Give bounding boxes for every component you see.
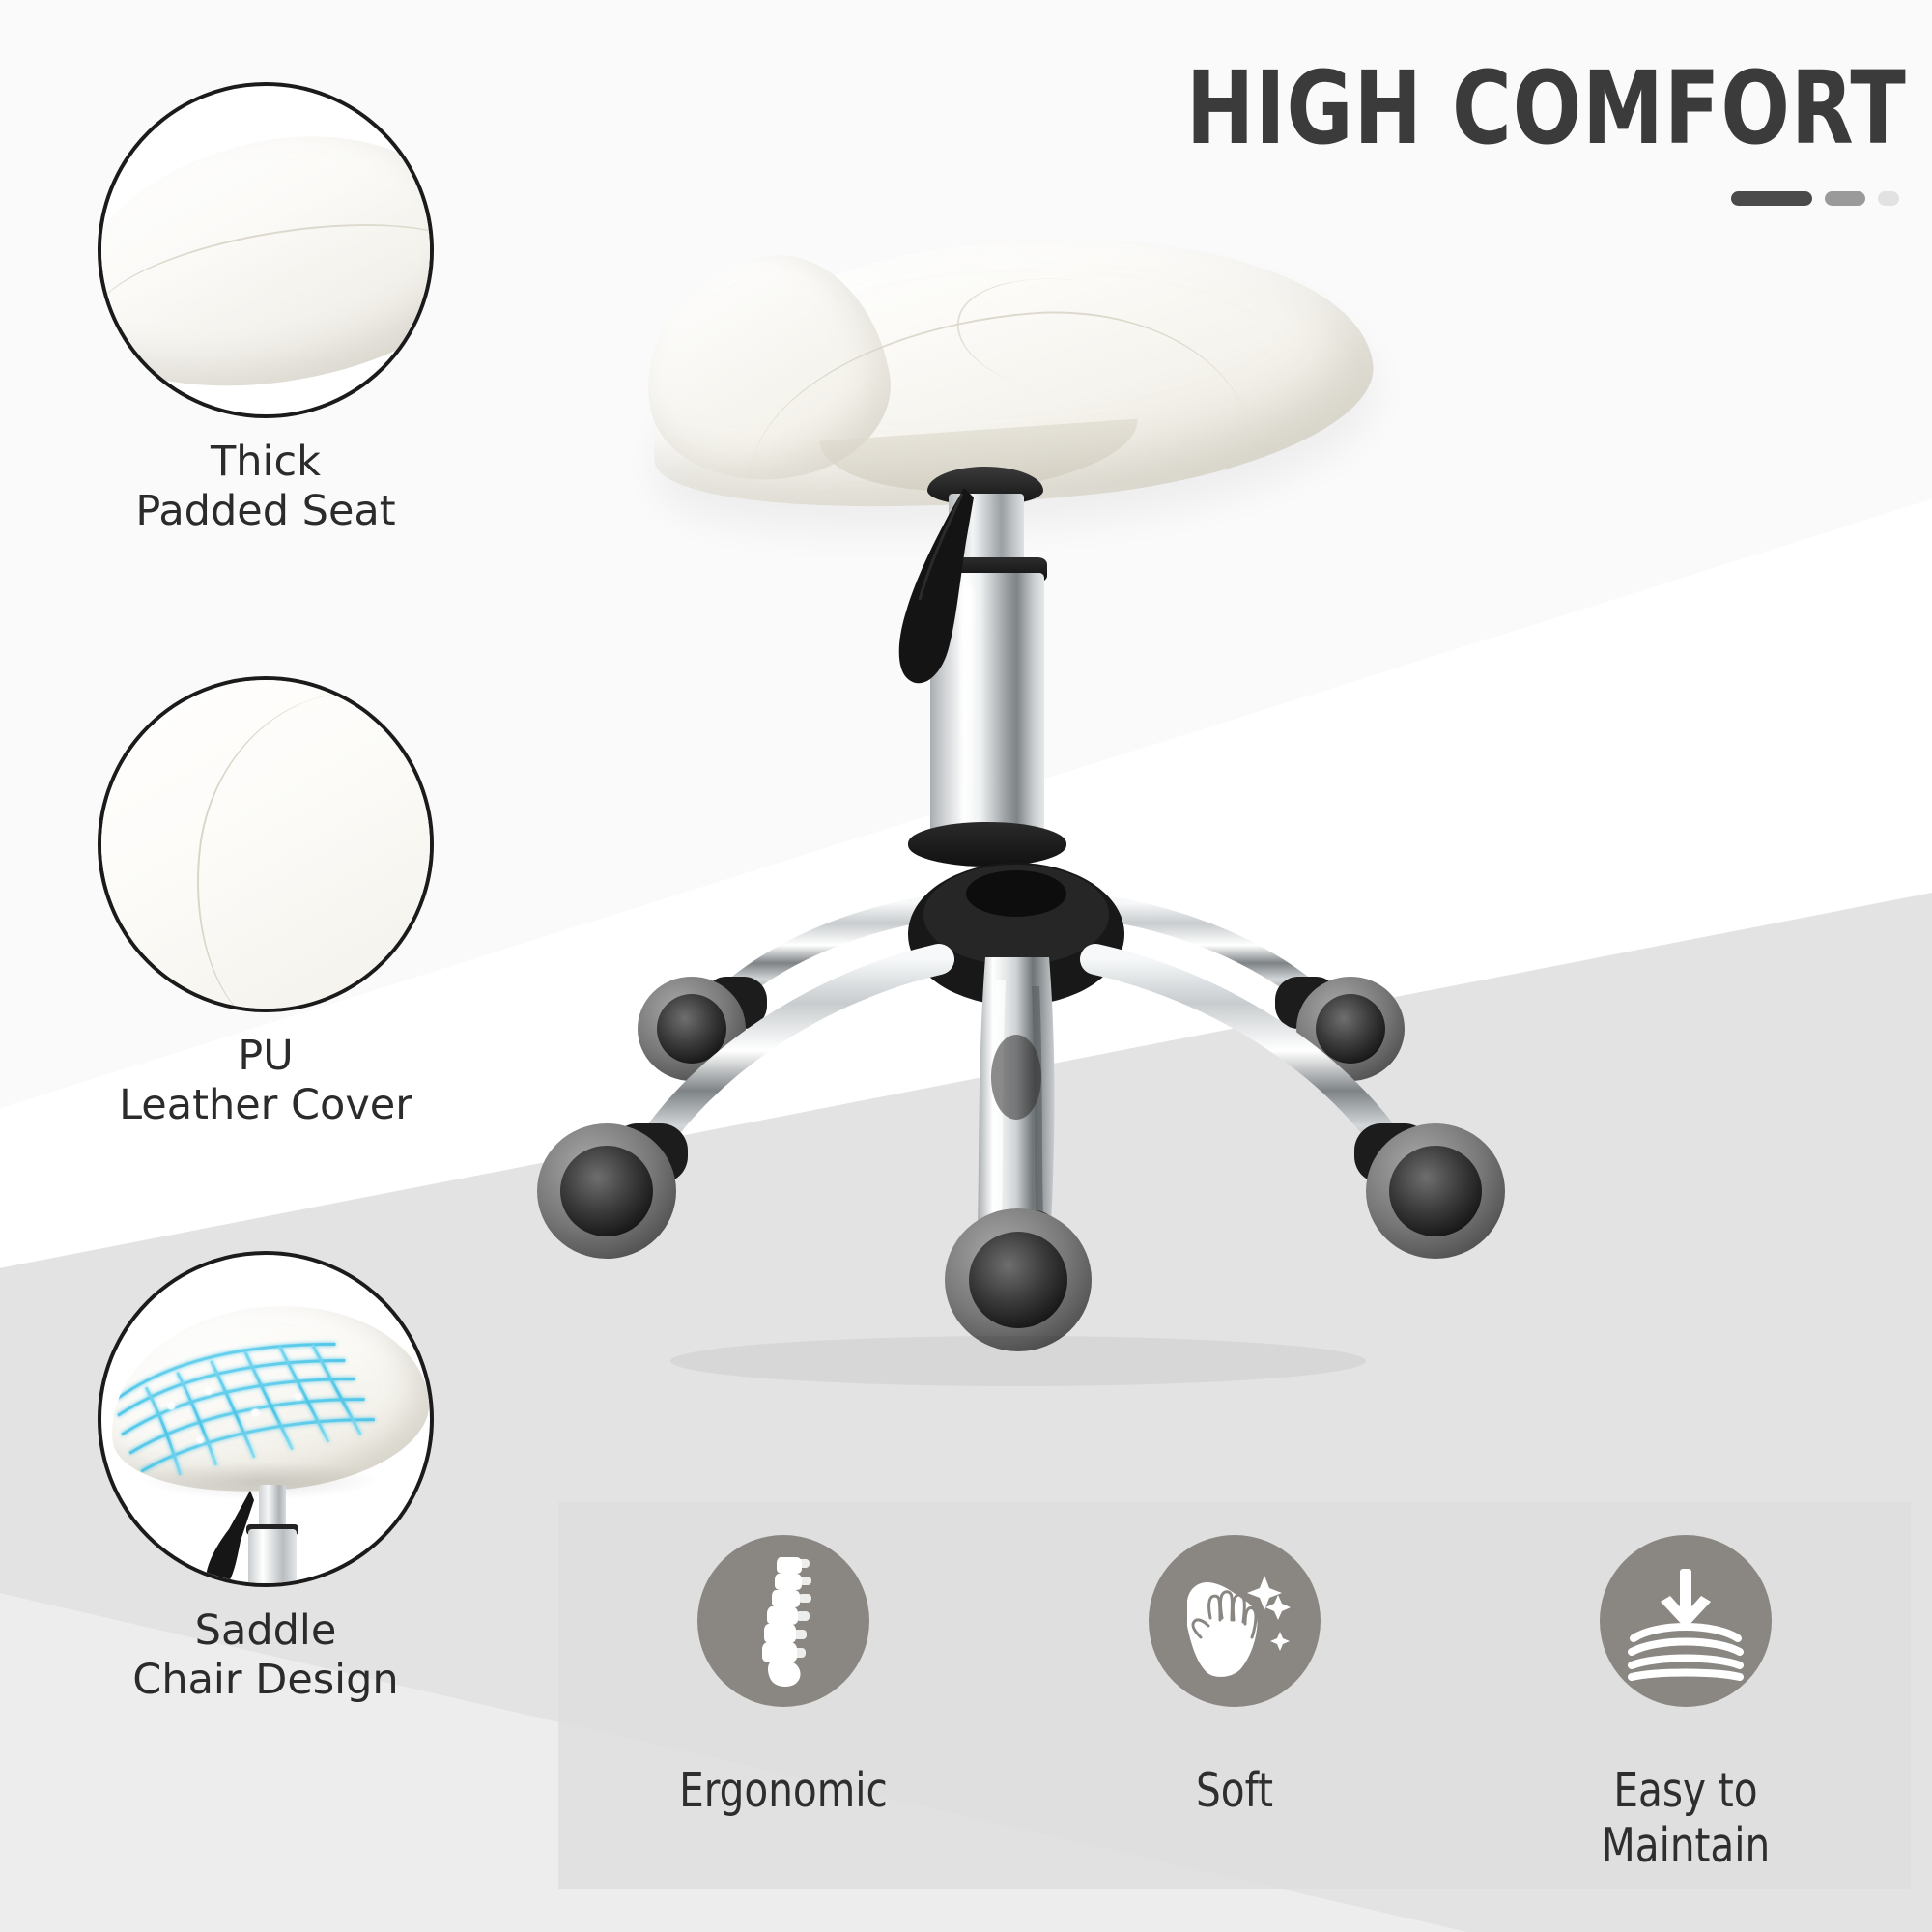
feature-saddle-chair-design: Saddle Chair Design <box>53 1251 478 1704</box>
base-leg-front-center <box>978 957 1055 1224</box>
benefits-panel: Ergonomic <box>558 1502 1911 1889</box>
benefit-label-easy-to-maintain: Easy to Maintain <box>1539 1763 1833 1873</box>
saddle-seat-mesh-photo <box>98 1251 434 1587</box>
benefit-label-soft: Soft <box>1088 1763 1381 1818</box>
feature-label-line1: Saddle <box>195 1606 337 1655</box>
feature-label-line2: Chair Design <box>53 1656 478 1705</box>
height-lever-icon-small <box>190 1487 254 1587</box>
page-title: HIGH COMFORT <box>1186 58 1907 158</box>
caster-right <box>1354 1123 1505 1259</box>
benefit-easy-to-maintain: Easy to Maintain <box>1526 1535 1845 1873</box>
seat-closeup-photo <box>98 82 434 418</box>
infographic-canvas: HIGH COMFORT Thick Padded Seat PU Leathe… <box>0 0 1932 1932</box>
dash-medium-icon <box>1825 191 1865 206</box>
feature-label-saddle-chair-design: Saddle Chair Design <box>53 1606 478 1704</box>
feature-label-line2: Leather Cover <box>53 1081 478 1130</box>
gas-lift-cylinder-small <box>248 1529 297 1587</box>
feature-label-line2: Padded Seat <box>53 487 478 536</box>
hand-sparkle-icon-circle <box>1149 1535 1321 1707</box>
caster-front <box>945 1208 1092 1351</box>
benefits-row: Ergonomic <box>558 1502 1911 1889</box>
header: HIGH COMFORT <box>1106 58 1907 206</box>
feature-label-line1: Thick <box>211 438 321 486</box>
feature-label-pu-leather-cover: PU Leather Cover <box>53 1032 478 1129</box>
benefit-ergonomic: Ergonomic <box>624 1535 943 1818</box>
feature-label-line1: PU <box>238 1032 293 1080</box>
feature-pu-leather-cover: PU Leather Cover <box>53 676 478 1129</box>
feature-thick-padded-seat: Thick Padded Seat <box>53 82 478 535</box>
height-adjustment-lever-icon <box>848 486 974 727</box>
spine-icon <box>730 1553 837 1689</box>
product-image-saddle-stool <box>502 208 1526 1415</box>
arrow-down-cushion-icon <box>1624 1559 1747 1683</box>
dash-short-icon <box>1878 191 1899 206</box>
leather-stitch-closeup-photo <box>98 676 434 1012</box>
spine-icon-circle <box>697 1535 869 1707</box>
benefit-label-ergonomic: Ergonomic <box>638 1763 931 1818</box>
dash-long-icon <box>1731 191 1812 206</box>
caster-left <box>537 1123 688 1259</box>
five-star-base-and-casters <box>502 787 1526 1415</box>
arrow-down-cushion-icon-circle <box>1600 1535 1772 1707</box>
gas-lift-spindle-small <box>259 1485 286 1529</box>
benefit-soft: Soft <box>1075 1535 1394 1818</box>
accent-dashes <box>1106 191 1907 206</box>
hand-sparkle-icon <box>1172 1558 1297 1684</box>
feature-label-thick-padded-seat: Thick Padded Seat <box>53 438 478 535</box>
